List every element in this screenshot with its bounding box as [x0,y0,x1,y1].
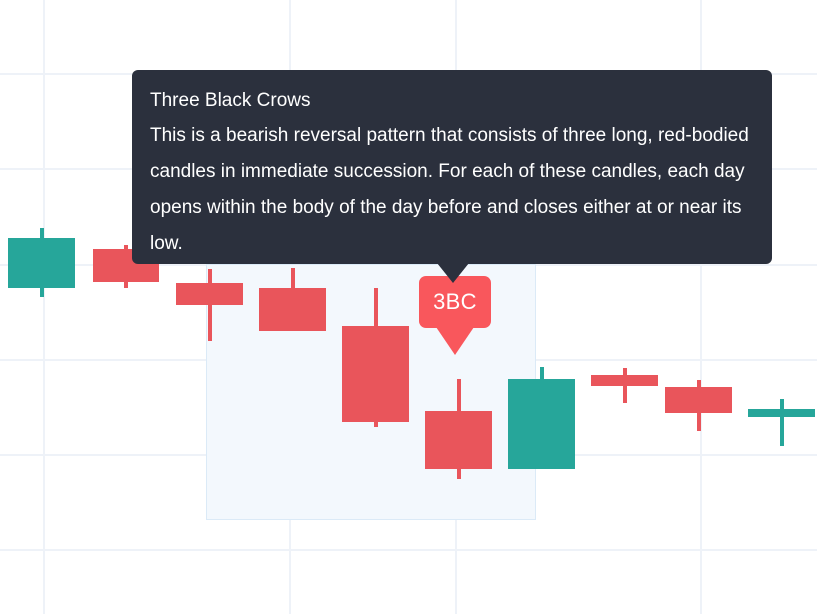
candlestick-chart-stage: 3BC Three Black Crows This is a bearish … [0,0,817,614]
pattern-tooltip: Three Black Crows This is a bearish reve… [132,70,772,264]
pattern-tooltip-layer: Three Black Crows This is a bearish reve… [0,0,817,614]
pattern-tooltip-pointer-icon [437,263,469,283]
pattern-tooltip-description: This is a bearish reversal pattern that … [150,118,752,262]
pattern-tooltip-title: Three Black Crows [150,86,752,116]
